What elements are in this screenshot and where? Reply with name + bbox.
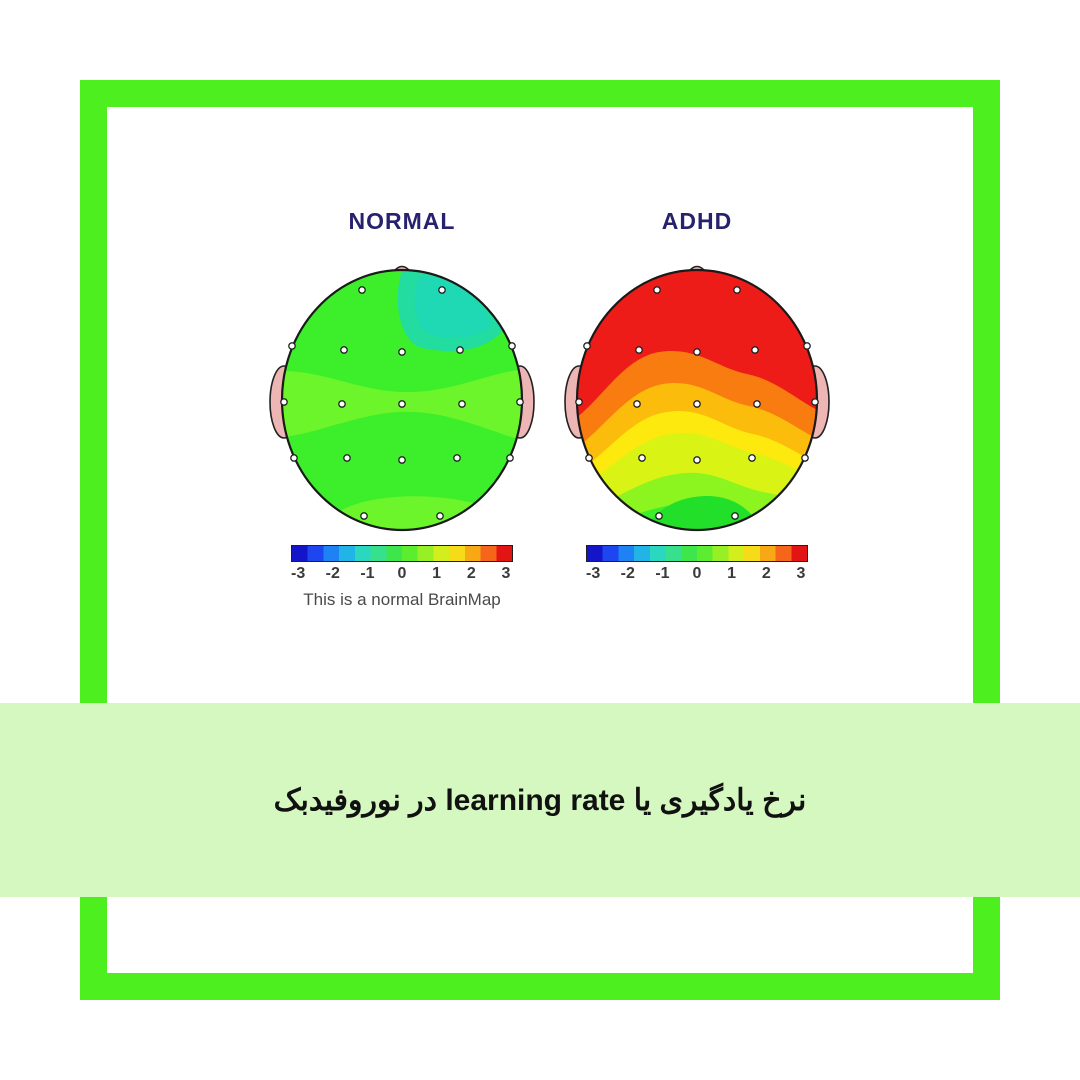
colorbar-tick: 2 [759, 565, 773, 583]
colorbar-gradient-normal [291, 545, 513, 562]
head-svg-normal [252, 242, 552, 542]
colorbar-tick: -3 [586, 565, 600, 583]
colorbar-ticks-normal: -3 -2 -1 0 1 2 3 [291, 562, 513, 583]
head-topography-adhd [547, 242, 847, 542]
brainmap-figure: NORMAL [107, 180, 973, 650]
head-svg-adhd [547, 242, 847, 542]
brainmap-panel-normal: NORMAL [252, 180, 552, 650]
caption-band-text: نرخ یادگیری یا learning rate در نوروفیدب… [274, 783, 807, 818]
colorbar-tick: -3 [291, 565, 305, 583]
scalp-field-adhd [547, 242, 847, 542]
colorbar-tick: 1 [430, 565, 444, 583]
colorbar-tick: 1 [725, 565, 739, 583]
colorbar-gradient-adhd [586, 545, 808, 562]
colorbar-ticks-adhd: -3 -2 -1 0 1 2 3 [586, 562, 808, 583]
colorbar-normal: -3 -2 -1 0 1 2 3 [252, 545, 552, 583]
colorbar-tick: 2 [464, 565, 478, 583]
brainmap-caption-normal: This is a normal BrainMap [252, 590, 552, 610]
colorbar-tick: 3 [794, 565, 808, 583]
brainmap-title-normal: NORMAL [252, 208, 552, 235]
scalp-field-normal [252, 242, 552, 542]
brainmap-title-adhd: ADHD [547, 208, 847, 235]
brainmap-panel-adhd: ADHD [547, 180, 847, 650]
colorbar-adhd: -3 -2 -1 0 1 2 3 [547, 545, 847, 583]
colorbar-tick: -1 [655, 565, 669, 583]
colorbar-tick: 0 [690, 565, 704, 583]
caption-band: نرخ یادگیری یا learning rate در نوروفیدب… [0, 703, 1080, 897]
colorbar-tick: -2 [326, 565, 340, 583]
colorbar-tick: -2 [621, 565, 635, 583]
colorbar-tick: 0 [395, 565, 409, 583]
colorbar-tick: -1 [360, 565, 374, 583]
head-topography-normal [252, 242, 552, 542]
colorbar-tick: 3 [499, 565, 513, 583]
